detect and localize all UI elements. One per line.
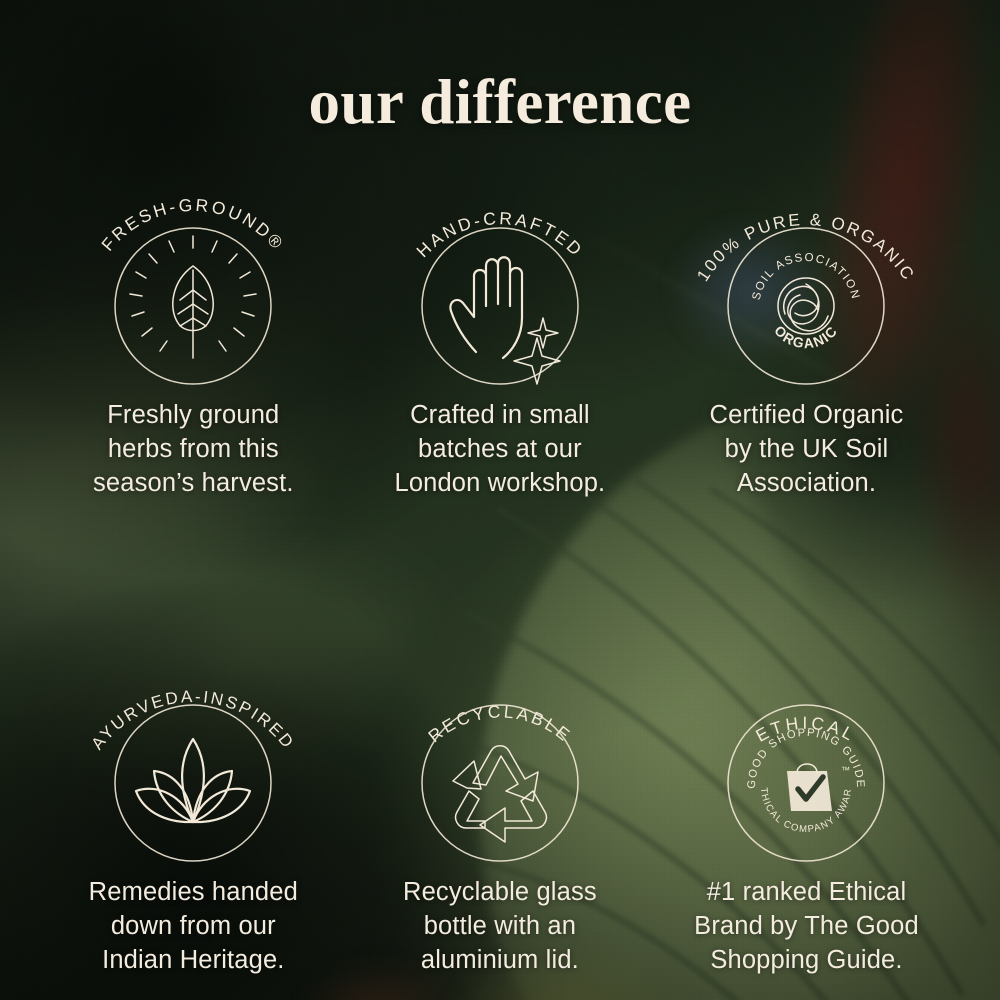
badge-pure-and-organic[interactable]: 100% PURE & ORGANIC SOIL ASSOCIATION ORG… (681, 178, 931, 390)
arc-label-pure-and-organic: 100% PURE & ORGANIC (694, 210, 920, 285)
caption-line: down from our (68, 909, 318, 943)
caption-line: Indian Heritage. (68, 943, 318, 977)
arc-label-ayurveda-inspired: AYURVEDA-INSPIRED (88, 687, 299, 753)
caption-hand-crafted: Crafted in small batches at our London w… (375, 398, 625, 500)
caption-line: by the UK Soil (681, 432, 931, 466)
leaf-sunburst-icon (130, 236, 256, 358)
seal-trademark: ™ (841, 765, 850, 775)
caption-pure-and-organic: Certified Organic by the UK Soil Associa… (681, 398, 931, 500)
caption-line: Association. (681, 466, 931, 500)
caption-line: batches at our (375, 432, 625, 466)
feature-row-2: AYURVEDA-INSPIRED (40, 655, 960, 977)
seal-bottom-label: ORGANIC (772, 322, 842, 351)
badge-ethical[interactable]: ETHICAL GOOD SHOPPING GUIDE ETHICAL COMP… (681, 655, 931, 867)
seal-top-arc: SOIL ASSOCIATION (750, 251, 863, 302)
feature-grid: FRESH-GROUND® (40, 178, 960, 977)
caption-line: bottle with an (375, 909, 625, 943)
caption-line: #1 ranked Ethical (675, 875, 937, 909)
caption-line: Freshly ground (68, 398, 318, 432)
feature-fresh-ground[interactable]: FRESH-GROUND® (40, 178, 347, 500)
arc-label-recyclable: RECYCLABLE (424, 701, 575, 746)
caption-ayurveda-inspired: Remedies handed down from our Indian Her… (68, 875, 318, 977)
soil-association-organic-seal-icon: SOIL ASSOCIATION ORGANIC (750, 251, 863, 352)
badge-ayurveda-inspired[interactable]: AYURVEDA-INSPIRED (68, 655, 318, 867)
caption-line: Recyclable glass (375, 875, 625, 909)
badge-recyclable[interactable]: RECYCLABLE (375, 655, 625, 867)
feature-recyclable[interactable]: RECYCLABLE (347, 655, 654, 977)
caption-line: Remedies handed (68, 875, 318, 909)
caption-line: herbs from this (68, 432, 318, 466)
badge-hand-crafted[interactable]: HAND-CRAFTED (375, 178, 625, 390)
arc-label-hand-crafted: HAND-CRAFTED (412, 208, 587, 261)
feature-hand-crafted[interactable]: HAND-CRAFTED Crafted in small batches at… (347, 178, 654, 500)
caption-line: season’s harvest. (68, 466, 318, 500)
badge-ring (422, 228, 578, 384)
lotus-leaves-icon (136, 739, 250, 822)
recycling-arrows-icon (453, 746, 546, 842)
caption-line: London workshop. (375, 466, 625, 500)
badge-fresh-ground[interactable]: FRESH-GROUND® (68, 178, 318, 390)
caption-ethical: #1 ranked Ethical Brand by The Good Shop… (675, 875, 937, 977)
caption-line: Shopping Guide. (675, 943, 937, 977)
feature-row-1: FRESH-GROUND® (40, 178, 960, 500)
good-shopping-guide-seal-icon: GOOD SHOPPING GUIDE ETHICAL COMPANY AWAR… (677, 647, 866, 835)
trefoil-knot-icon (778, 278, 834, 334)
hand-sparkle-icon (450, 257, 560, 384)
caption-line: Crafted in small (375, 398, 625, 432)
badge-ring (115, 705, 271, 861)
feature-ethical[interactable]: ETHICAL GOOD SHOPPING GUIDE ETHICAL COMP… (653, 655, 960, 977)
feature-ayurveda-inspired[interactable]: AYURVEDA-INSPIRED (40, 655, 347, 977)
caption-fresh-ground: Freshly ground herbs from this season’s … (68, 398, 318, 500)
caption-recyclable: Recyclable glass bottle with an aluminiu… (375, 875, 625, 977)
feature-pure-and-organic[interactable]: 100% PURE & ORGANIC SOIL ASSOCIATION ORG… (653, 178, 960, 500)
page-title: our difference (0, 71, 1000, 134)
caption-line: Brand by The Good (675, 909, 937, 943)
caption-line: Certified Organic (681, 398, 931, 432)
caption-line: aluminium lid. (375, 943, 625, 977)
shopping-bag-check-icon (787, 764, 832, 811)
